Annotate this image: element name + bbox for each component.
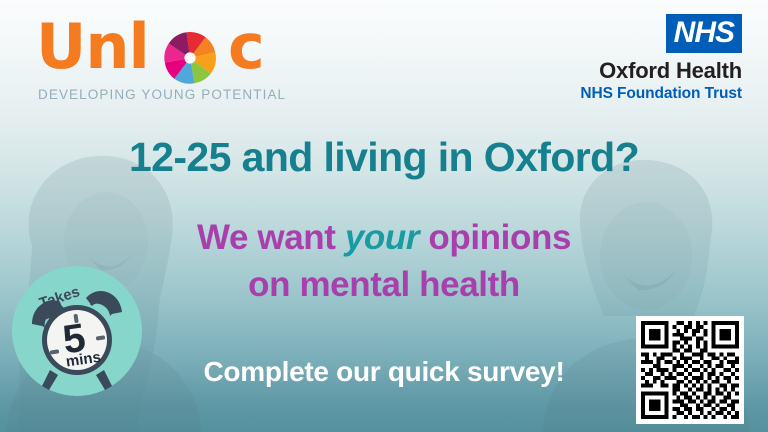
takes-5-mins-badge: 5 mins Takes	[12, 266, 142, 396]
nhs-oxford-health-logo: NHS Oxford Health NHS Foundation Trust	[552, 14, 742, 103]
headline: 12-25 and living in Oxford?	[0, 134, 768, 181]
aperture-icon	[162, 30, 218, 86]
survey-qr-code[interactable]	[636, 316, 744, 424]
promo-poster: Unl c	[0, 0, 768, 432]
unloc-wordmark: Unl c	[36, 16, 292, 82]
subheadline-accent: your	[345, 218, 419, 257]
unloc-wordmark-post: c	[228, 16, 264, 78]
unloc-tagline: DEVELOPING YOUNG POTENTIAL	[38, 87, 286, 102]
nhs-trust-name: Oxford Health	[552, 58, 742, 84]
qr-matrix	[641, 321, 739, 419]
subheadline-part-2: opinions	[419, 218, 571, 257]
unloc-logo: Unl c	[36, 16, 292, 108]
unloc-wordmark-pre: Unl	[36, 16, 149, 78]
subheadline-line-1: We want your opinions	[0, 214, 768, 261]
nhs-badge: NHS	[666, 14, 742, 53]
nhs-trust-sub: NHS Foundation Trust	[552, 84, 742, 103]
subheadline-part-1: We want	[197, 218, 345, 257]
